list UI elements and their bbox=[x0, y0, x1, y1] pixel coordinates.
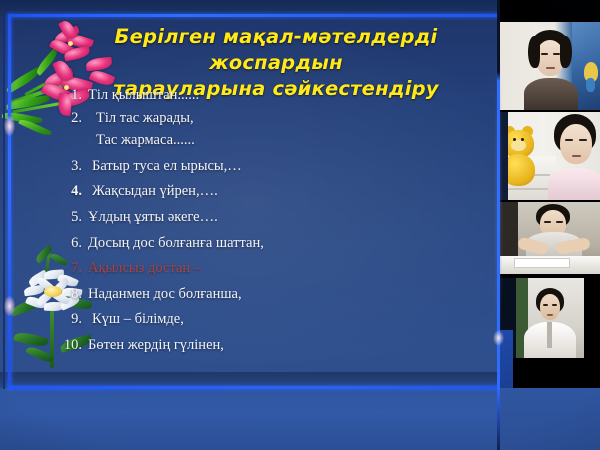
frame-inner-line bbox=[3, 14, 5, 389]
list-item: 6. Досың дос болғанға шаттан, bbox=[52, 232, 382, 255]
video-tile-3-scene bbox=[500, 202, 600, 274]
list-item-number: 1. bbox=[52, 84, 88, 107]
frame-glow-bottom bbox=[4, 296, 15, 316]
video-conference-slide-screen: Берілген мақал-мәтелдерді жоспардын тара… bbox=[0, 0, 600, 450]
list-item: 10. Бөтен жердің гүлінен, bbox=[52, 334, 382, 357]
frame-left-line bbox=[8, 14, 11, 389]
frame-glow-top bbox=[4, 116, 15, 136]
list-item-text: Тіл тас жарады, bbox=[88, 107, 382, 130]
list-item-text: Ақылсыз достан – bbox=[88, 257, 382, 280]
list-item-number: 2. bbox=[52, 107, 88, 130]
list-item: 8. Наданмен дос болғанша, bbox=[52, 283, 382, 306]
video-tile-1-scene bbox=[500, 22, 600, 110]
panel-seam-glow-nub bbox=[493, 330, 504, 346]
video-tile-4-scene bbox=[516, 278, 584, 358]
slide-title-line-1: Берілген мақал-мәтелдерді жоспардын bbox=[115, 25, 438, 74]
video-tile-participant-4[interactable] bbox=[516, 278, 584, 358]
video-tile-2-scene bbox=[500, 112, 600, 200]
list-item-text: Күш – білімде, bbox=[88, 308, 382, 331]
list-item-text: Тас жармаса...... bbox=[88, 129, 382, 152]
list-item-number: 3. bbox=[52, 155, 88, 178]
list-item-number: 5. bbox=[52, 206, 88, 229]
list-item: 2. Тіл тас жарады, bbox=[52, 107, 382, 130]
list-item: 1. Тіл қылыштан...... bbox=[52, 84, 382, 107]
list-item: 3. Батыр туса ел ырысы,… bbox=[52, 155, 382, 178]
list-item-text: Наданмен дос болғанша, bbox=[88, 283, 382, 306]
list-item-text: Тіл қылыштан...... bbox=[88, 84, 382, 107]
list-item-continuation: Тас жармаса...... bbox=[52, 129, 382, 152]
list-item-number: 8. bbox=[52, 283, 88, 306]
list-item: 4. Жақсыдан үйрен,…. bbox=[52, 180, 382, 203]
list-item: 9. Күш – білімде, bbox=[52, 308, 382, 331]
panel-seam-line bbox=[497, 0, 500, 450]
list-item-text: Бөтен жердің гүлінен, bbox=[88, 334, 382, 357]
list-item-text: Жақсыдан үйрен,…. bbox=[88, 180, 382, 203]
list-item-number: 6. bbox=[52, 232, 88, 255]
video-tile-participant-2[interactable] bbox=[500, 112, 600, 200]
list-item-text: Батыр туса ел ырысы,… bbox=[88, 155, 382, 178]
list-item-number: 7. bbox=[52, 257, 88, 280]
list-item-text: Ұлдың ұяты әкеге…. bbox=[88, 206, 382, 229]
list-item-text: Досың дос болғанға шаттан, bbox=[88, 232, 382, 255]
video-tile-participant-3[interactable] bbox=[500, 202, 600, 274]
video-tile-participant-1[interactable] bbox=[500, 22, 600, 110]
list-item-number: 10. bbox=[52, 334, 88, 357]
list-item-number: 4. bbox=[52, 180, 88, 203]
list-item-number: 9. bbox=[52, 308, 88, 331]
video-participant-panel[interactable] bbox=[500, 0, 600, 450]
list-item: 5. Ұлдың ұяты әкеге…. bbox=[52, 206, 382, 229]
proverb-list: 1. Тіл қылыштан...... 2. Тіл тас жарады,… bbox=[52, 84, 382, 357]
list-item-highlighted: 7. Ақылсыз достан – bbox=[52, 257, 382, 280]
video-panel-bottom-blue bbox=[500, 388, 600, 450]
